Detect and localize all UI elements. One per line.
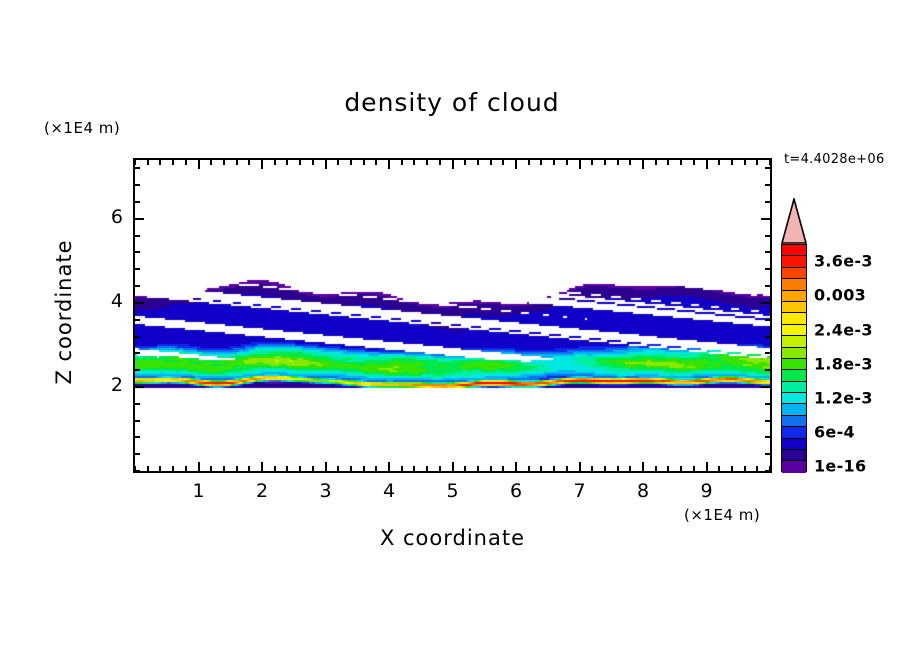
y-tick-major <box>761 302 770 304</box>
x-tick-minor <box>185 466 187 471</box>
y-tick-minor <box>135 336 140 338</box>
colorbar-tick-label: 2.4e-3 <box>814 320 873 339</box>
colorbar-band <box>782 268 806 279</box>
y-tick-minor <box>765 167 770 169</box>
x-tick-minor <box>312 466 314 471</box>
y-tick-major <box>135 302 144 304</box>
x-tick-minor <box>591 466 593 471</box>
x-tick-minor <box>540 466 542 471</box>
x-tick-minor <box>375 466 377 471</box>
x-tick-minor <box>223 160 225 165</box>
x-tick-major <box>515 462 517 471</box>
x-tick-minor <box>502 160 504 165</box>
colorbar-tick-label: 0.003 <box>814 286 866 305</box>
x-tick-major <box>706 160 708 169</box>
x-tick-minor <box>286 160 288 165</box>
x-tick-minor <box>667 466 669 471</box>
y-tick-minor <box>765 336 770 338</box>
x-tick-minor <box>629 466 631 471</box>
y-tick-label: 4 <box>83 290 123 312</box>
colorbar-band <box>782 404 806 415</box>
x-tick-major <box>388 462 390 471</box>
y-tick-minor <box>135 369 140 371</box>
y-tick-minor <box>135 268 140 270</box>
y-tick-minor <box>135 201 140 203</box>
x-tick-minor <box>477 160 479 165</box>
x-tick-minor <box>299 160 301 165</box>
x-tick-minor <box>159 160 161 165</box>
y-tick-minor <box>135 470 140 472</box>
x-tick-minor <box>337 160 339 165</box>
y-tick-minor <box>135 319 140 321</box>
x-tick-minor <box>286 466 288 471</box>
colorbar-band <box>782 416 806 427</box>
x-tick-minor <box>553 160 555 165</box>
x-tick-label: 7 <box>560 480 600 502</box>
x-tick-minor <box>375 160 377 165</box>
colorbar-tick-label: 1e-16 <box>814 457 866 476</box>
x-tick-minor <box>591 160 593 165</box>
x-tick-minor <box>147 160 149 165</box>
x-tick-major <box>515 160 517 169</box>
x-tick-major <box>388 160 390 169</box>
x-tick-minor <box>185 160 187 165</box>
time-annotation: t=4.4028e+06 <box>784 152 885 167</box>
y-tick-minor <box>135 436 140 438</box>
x-tick-minor <box>756 466 758 471</box>
y-tick-minor <box>135 184 140 186</box>
plot-area <box>133 158 772 473</box>
colorbar-band <box>782 336 806 347</box>
x-tick-minor <box>629 160 631 165</box>
colorbar-band <box>782 461 806 472</box>
colorbar-tick-label: 3.6e-3 <box>814 252 873 271</box>
colorbar-band <box>782 325 806 336</box>
x-tick-minor <box>223 466 225 471</box>
x-tick-major <box>452 462 454 471</box>
x-tick-minor <box>274 160 276 165</box>
y-axis-title: Z coordinate <box>52 212 76 412</box>
y-tick-minor <box>765 403 770 405</box>
x-tick-minor <box>693 466 695 471</box>
x-tick-minor <box>426 466 428 471</box>
x-tick-minor <box>667 160 669 165</box>
x-tick-minor <box>756 160 758 165</box>
x-axis-title: X coordinate <box>133 526 772 550</box>
colorbar-tick-label: 6e-4 <box>814 423 855 442</box>
x-tick-minor <box>731 160 733 165</box>
y-tick-minor <box>135 235 140 237</box>
x-tick-major <box>642 462 644 471</box>
x-tick-minor <box>680 160 682 165</box>
y-tick-minor <box>765 285 770 287</box>
x-tick-minor <box>502 466 504 471</box>
density-field-heatmap <box>135 160 770 471</box>
y-tick-major <box>135 386 144 388</box>
x-tick-major <box>198 462 200 471</box>
x-tick-major <box>261 462 263 471</box>
x-tick-minor <box>413 466 415 471</box>
colorbar-band <box>782 427 806 438</box>
x-tick-minor <box>553 466 555 471</box>
x-tick-minor <box>490 160 492 165</box>
x-tick-major <box>706 462 708 471</box>
x-tick-minor <box>693 160 695 165</box>
colorbar-tick-label: 1.8e-3 <box>814 354 873 373</box>
x-tick-major <box>642 160 644 169</box>
y-tick-minor <box>135 352 140 354</box>
x-tick-minor <box>769 160 771 165</box>
colorbar-tick-label: 1.2e-3 <box>814 388 873 407</box>
x-tick-major <box>579 462 581 471</box>
colorbar-band <box>782 439 806 450</box>
x-tick-minor <box>439 466 441 471</box>
x-tick-minor <box>439 160 441 165</box>
x-tick-minor <box>528 466 530 471</box>
x-tick-minor <box>159 466 161 471</box>
y-tick-major <box>761 218 770 220</box>
y-tick-minor <box>765 470 770 472</box>
x-tick-minor <box>464 466 466 471</box>
y-tick-minor <box>135 420 140 422</box>
x-tick-minor <box>363 466 365 471</box>
x-tick-minor <box>363 160 365 165</box>
x-tick-minor <box>464 160 466 165</box>
x-tick-minor <box>401 466 403 471</box>
y-tick-minor <box>765 319 770 321</box>
x-tick-minor <box>147 466 149 471</box>
y-tick-minor <box>765 268 770 270</box>
y-tick-minor <box>765 436 770 438</box>
x-tick-minor <box>401 160 403 165</box>
colorbar-band <box>782 256 806 267</box>
x-tick-minor <box>718 466 720 471</box>
x-tick-minor <box>731 466 733 471</box>
x-tick-minor <box>655 466 657 471</box>
x-tick-label: 2 <box>242 480 282 502</box>
colorbar-band <box>782 348 806 359</box>
page-title: density of cloud <box>0 88 904 117</box>
x-tick-minor <box>210 160 212 165</box>
x-tick-minor <box>210 466 212 471</box>
x-tick-minor <box>477 466 479 471</box>
x-tick-minor <box>350 160 352 165</box>
x-tick-minor <box>744 160 746 165</box>
colorbar-extend-arrow <box>781 198 807 244</box>
x-tick-minor <box>312 160 314 165</box>
y-tick-minor <box>765 201 770 203</box>
colorbar-band <box>782 302 806 313</box>
x-tick-minor <box>413 160 415 165</box>
x-tick-minor <box>134 160 136 165</box>
y-tick-minor <box>765 251 770 253</box>
colorbar-band <box>782 245 806 256</box>
x-tick-major <box>452 160 454 169</box>
x-tick-minor <box>617 160 619 165</box>
x-tick-minor <box>274 466 276 471</box>
y-tick-minor <box>765 184 770 186</box>
x-tick-minor <box>426 160 428 165</box>
y-tick-minor <box>135 167 140 169</box>
x-tick-label: 9 <box>687 480 727 502</box>
y-tick-minor <box>135 453 140 455</box>
x-tick-minor <box>248 466 250 471</box>
y-tick-minor <box>765 420 770 422</box>
x-tick-minor <box>680 466 682 471</box>
x-tick-minor <box>718 160 720 165</box>
colorbar-band <box>782 359 806 370</box>
y-tick-major <box>761 386 770 388</box>
x-tick-minor <box>655 160 657 165</box>
x-tick-label: 6 <box>496 480 536 502</box>
x-tick-minor <box>248 160 250 165</box>
colorbar-band <box>782 279 806 290</box>
y-axis-unit-label: (×1E4 m) <box>44 119 120 137</box>
colorbar-band <box>782 291 806 302</box>
x-tick-minor <box>299 466 301 471</box>
x-tick-minor <box>350 466 352 471</box>
colorbar <box>781 244 807 472</box>
x-tick-label: 5 <box>433 480 473 502</box>
x-tick-label: 4 <box>369 480 409 502</box>
x-tick-label: 3 <box>306 480 346 502</box>
y-tick-minor <box>765 369 770 371</box>
x-tick-minor <box>172 160 174 165</box>
colorbar-band <box>782 450 806 461</box>
colorbar-bands <box>781 244 807 472</box>
colorbar-band <box>782 313 806 324</box>
x-tick-minor <box>604 160 606 165</box>
x-tick-minor <box>617 466 619 471</box>
x-tick-major <box>579 160 581 169</box>
y-tick-minor <box>135 403 140 405</box>
x-tick-major <box>325 462 327 471</box>
y-tick-label: 2 <box>83 374 123 396</box>
x-tick-label: 8 <box>623 480 663 502</box>
x-tick-minor <box>540 160 542 165</box>
y-tick-minor <box>765 453 770 455</box>
colorbar-band <box>782 370 806 381</box>
x-tick-minor <box>566 160 568 165</box>
colorbar-band <box>782 393 806 404</box>
x-tick-minor <box>236 466 238 471</box>
x-tick-minor <box>490 466 492 471</box>
y-tick-minor <box>765 352 770 354</box>
x-tick-major <box>325 160 327 169</box>
x-axis-unit-label: (×1E4 m) <box>684 506 760 524</box>
y-tick-label: 6 <box>83 206 123 228</box>
x-tick-minor <box>566 466 568 471</box>
y-tick-major <box>135 218 144 220</box>
x-tick-minor <box>744 466 746 471</box>
y-tick-minor <box>135 285 140 287</box>
x-tick-minor <box>236 160 238 165</box>
x-tick-major <box>198 160 200 169</box>
x-tick-minor <box>528 160 530 165</box>
x-tick-minor <box>604 466 606 471</box>
x-tick-label: 1 <box>179 480 219 502</box>
colorbar-band <box>782 382 806 393</box>
x-tick-major <box>261 160 263 169</box>
y-tick-minor <box>765 235 770 237</box>
x-tick-minor <box>172 466 174 471</box>
x-tick-minor <box>337 466 339 471</box>
y-tick-minor <box>135 251 140 253</box>
